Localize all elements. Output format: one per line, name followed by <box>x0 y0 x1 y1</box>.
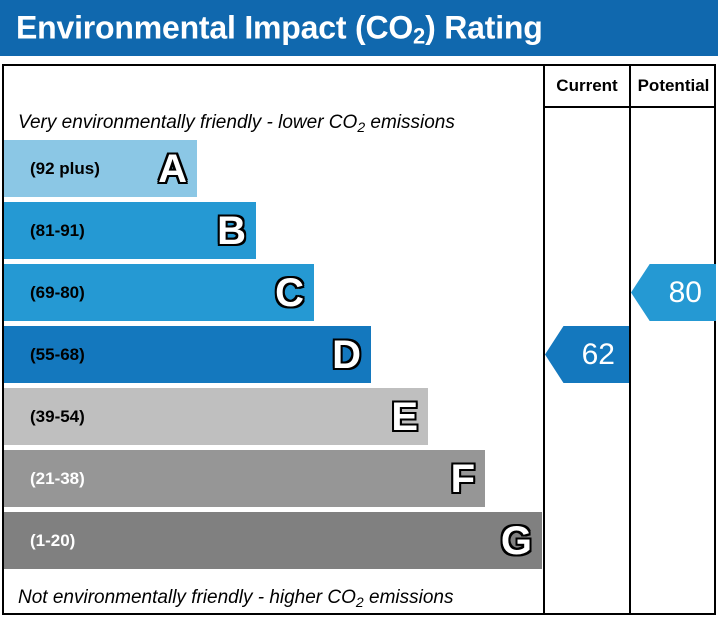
band-letter-g: G <box>501 521 532 561</box>
current-rating-arrow: 62 <box>545 326 629 383</box>
band-range-label: (81-91) <box>30 221 85 241</box>
band-letter-a: A <box>158 149 187 189</box>
epc-environmental-impact-chart: Environmental Impact (CO2) Rating Curren… <box>0 0 718 619</box>
title-suffix: ) Rating <box>425 10 543 46</box>
band-letter-b: B <box>217 211 246 251</box>
potential-rating-value: 80 <box>669 276 702 310</box>
caption-bottom-suffix: emissions <box>364 587 454 608</box>
caption-bottom-subscript: 2 <box>356 594 364 610</box>
caption-bottom-prefix: Not environmentally friendly - higher CO <box>18 587 356 608</box>
column-divider-potential <box>629 66 631 613</box>
rating-band-f: (21-38)F <box>4 450 485 507</box>
title-subscript: 2 <box>413 24 425 49</box>
ratings-table: Current Potential Very environmentally f… <box>2 64 716 615</box>
band-range-label: (69-80) <box>30 283 85 303</box>
page-title: Environmental Impact (CO2) Rating <box>16 10 543 47</box>
rating-band-b: (81-91)B <box>4 202 256 259</box>
band-range-label: (21-38) <box>30 469 85 489</box>
caption-top-prefix: Very environmentally friendly - lower CO <box>18 112 357 133</box>
band-letter-e: E <box>391 397 418 437</box>
caption-top: Very environmentally friendly - lower CO… <box>18 112 455 134</box>
band-range-label: (39-54) <box>30 407 85 427</box>
rating-band-e: (39-54)E <box>4 388 428 445</box>
rating-band-d: (55-68)D <box>4 326 371 383</box>
rating-band-a: (92 plus)A <box>4 140 197 197</box>
column-header-potential: Potential <box>631 66 716 106</box>
chart-header: Environmental Impact (CO2) Rating <box>0 0 718 56</box>
band-letter-d: D <box>332 335 361 375</box>
band-letter-c: C <box>275 273 304 313</box>
caption-top-subscript: 2 <box>357 119 365 135</box>
potential-rating-arrow: 80 <box>631 264 716 321</box>
rating-band-g: (1-20)G <box>4 512 542 569</box>
band-range-label: (55-68) <box>30 345 85 365</box>
caption-top-suffix: emissions <box>365 112 455 133</box>
column-divider-current <box>543 66 545 613</box>
current-rating-value: 62 <box>582 338 615 372</box>
rating-band-c: (69-80)C <box>4 264 314 321</box>
band-letter-f: F <box>451 459 475 499</box>
caption-bottom: Not environmentally friendly - higher CO… <box>18 587 453 609</box>
band-range-label: (92 plus) <box>30 159 100 179</box>
band-range-label: (1-20) <box>30 531 75 551</box>
column-header-current: Current <box>545 66 629 106</box>
header-row-separator <box>543 106 716 108</box>
title-prefix: Environmental Impact (CO <box>16 10 413 46</box>
